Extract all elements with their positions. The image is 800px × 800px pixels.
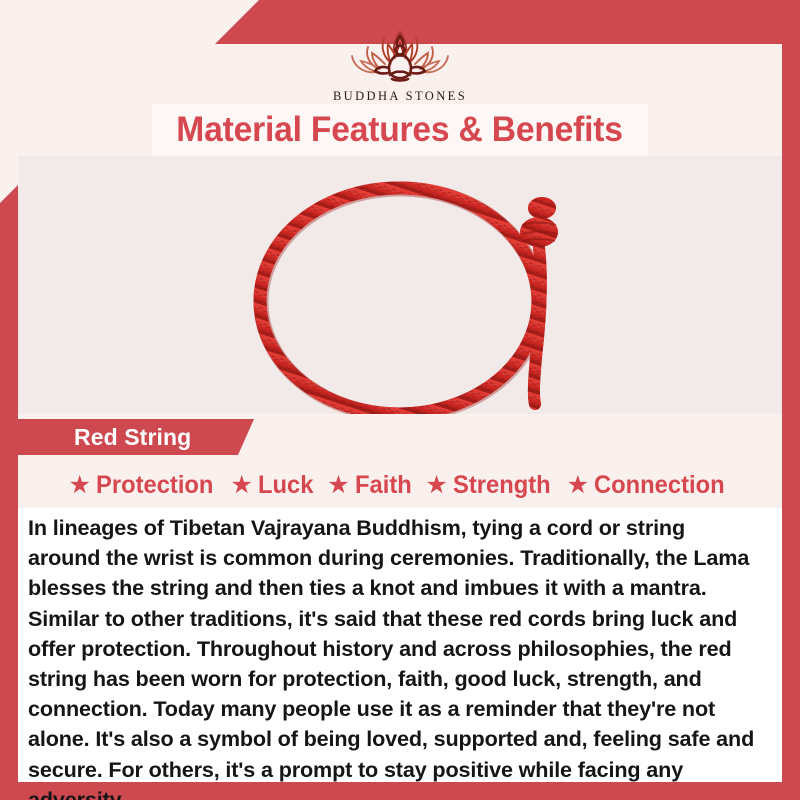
benefit-item-faith: ★ Faith xyxy=(327,471,414,500)
description-panel: In lineages of Tibetan Vajrayana Buddhis… xyxy=(18,508,782,782)
benefit-item-luck: ★ Luck xyxy=(231,471,317,500)
benefits-row: ★ Protection ★ Luck ★ Faith ★ Strength ★… xyxy=(18,466,782,504)
benefit-item-connection: ★ Connection xyxy=(567,471,732,500)
star-icon: ★ xyxy=(327,473,349,498)
benefit-label: Luck xyxy=(258,471,313,500)
brand-wordmark: BUDDHA STONES xyxy=(333,89,467,104)
benefit-label: Faith xyxy=(355,471,412,500)
page-title: Material Features & Benefits xyxy=(177,110,624,150)
description-text: In lineages of Tibetan Vajrayana Buddhis… xyxy=(28,513,760,800)
brand-logo: BUDDHA STONES xyxy=(333,22,467,108)
benefit-label: Strength xyxy=(453,471,551,500)
infographic-poster: BUDDHA STONES Material Features & Benefi… xyxy=(0,0,800,800)
benefit-label: Connection xyxy=(594,471,725,500)
product-photo xyxy=(18,156,782,414)
brand-header: BUDDHA STONES xyxy=(0,0,800,108)
star-icon: ★ xyxy=(567,473,589,498)
decor-band-right xyxy=(782,44,800,800)
red-cord-bracelet-illustration xyxy=(18,156,782,414)
benefit-item-strength: ★ Strength xyxy=(425,471,555,500)
product-label: Red String xyxy=(18,424,191,451)
title-plate: Material Features & Benefits xyxy=(152,104,648,156)
decor-band-left xyxy=(0,185,18,800)
star-icon: ★ xyxy=(231,473,253,498)
product-label-ribbon: Red String xyxy=(18,419,254,455)
star-icon: ★ xyxy=(68,473,90,498)
lotus-meditation-icon xyxy=(334,22,466,88)
benefit-label: Protection xyxy=(96,471,213,500)
benefit-item-protection: ★ Protection xyxy=(68,471,219,500)
star-icon: ★ xyxy=(425,473,447,498)
